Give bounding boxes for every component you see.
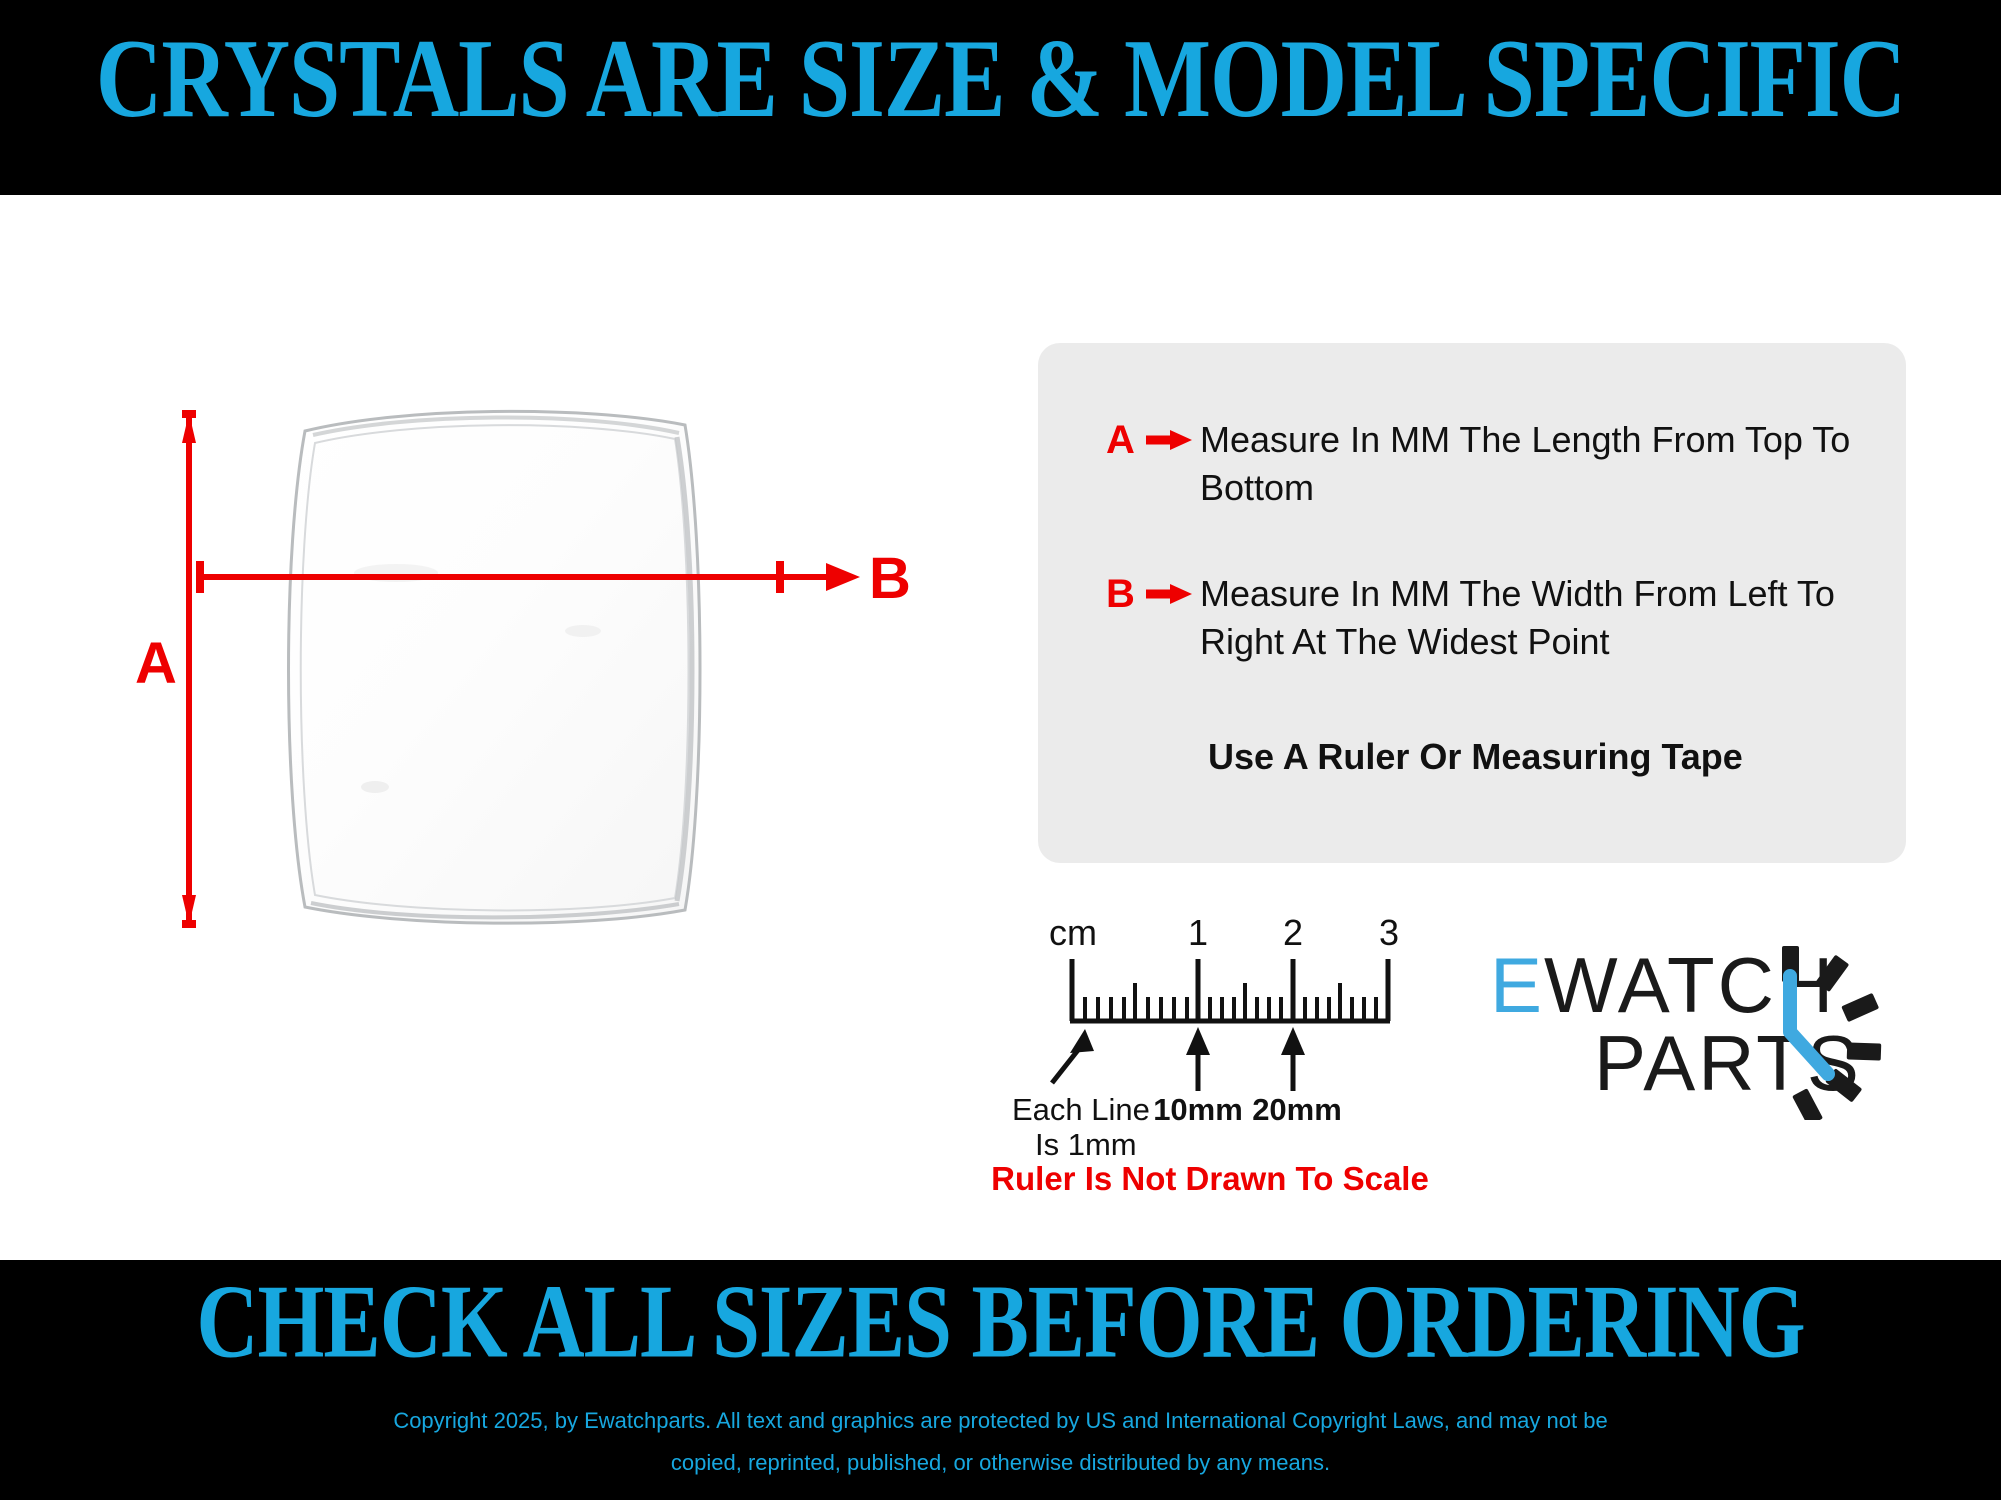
instruction-note: Use A Ruler Or Measuring Tape	[1208, 735, 1743, 779]
top-banner: CRYSTALS ARE SIZE & MODEL SPECIFIC	[0, 0, 2001, 195]
ruler-callout-each-line-2: Is 1mm	[1035, 1127, 1137, 1160]
instruction-text-a: Measure In MM The Length From Top To Bot…	[1192, 416, 1876, 512]
instruction-row-a: A Measure In MM The Length From Top To B…	[1106, 416, 1876, 512]
ruler-tick-label-2: 2	[1283, 912, 1303, 953]
copyright-line-2: copied, reprinted, published, or otherwi…	[0, 1448, 2001, 1478]
right-arrow-icon	[1140, 416, 1192, 464]
ruler-tick-label-3: 3	[1379, 912, 1399, 953]
ruler-callout-20mm: 20mm	[1252, 1092, 1342, 1127]
instruction-panel: A Measure In MM The Length From Top To B…	[1038, 343, 1906, 863]
ruler-scale-disclaimer: Ruler Is Not Drawn To Scale	[980, 1159, 1440, 1199]
ruler-illustration: cm 1 2 3	[1000, 905, 1420, 1160]
instruction-text-b: Measure In MM The Width From Left To Rig…	[1192, 570, 1876, 666]
crystal-diagram: A B	[0, 195, 1000, 1260]
ruler-callout-each-line-1: Each Line	[1012, 1092, 1150, 1127]
ruler-callout-10mm: 10mm	[1153, 1092, 1243, 1127]
bottom-banner-headline: CHECK ALL SIZES BEFORE ORDERING	[0, 1261, 2001, 1381]
top-banner-headline: CRYSTALS ARE SIZE & MODEL SPECIFIC	[0, 15, 2001, 142]
copyright-line-1: Copyright 2025, by Ewatchparts. All text…	[0, 1406, 2001, 1436]
right-arrow-icon	[1140, 570, 1192, 618]
dimension-label-a: A	[126, 635, 186, 693]
ruler-tick-label-1: 1	[1188, 912, 1208, 953]
dimension-line-b	[192, 555, 864, 599]
instruction-key-b: B	[1106, 570, 1140, 618]
instruction-key-a: A	[1106, 416, 1140, 464]
watch-crystal-illustration	[253, 395, 723, 940]
ewatchparts-logo: E WATCH PARTS	[1490, 920, 1890, 1120]
logo-letter-e: E	[1490, 941, 1545, 1029]
instruction-row-b: B Measure In MM The Width From Left To R…	[1106, 570, 1876, 666]
ruler-unit-label: cm	[1049, 912, 1097, 953]
dimension-label-b: B	[860, 550, 920, 608]
